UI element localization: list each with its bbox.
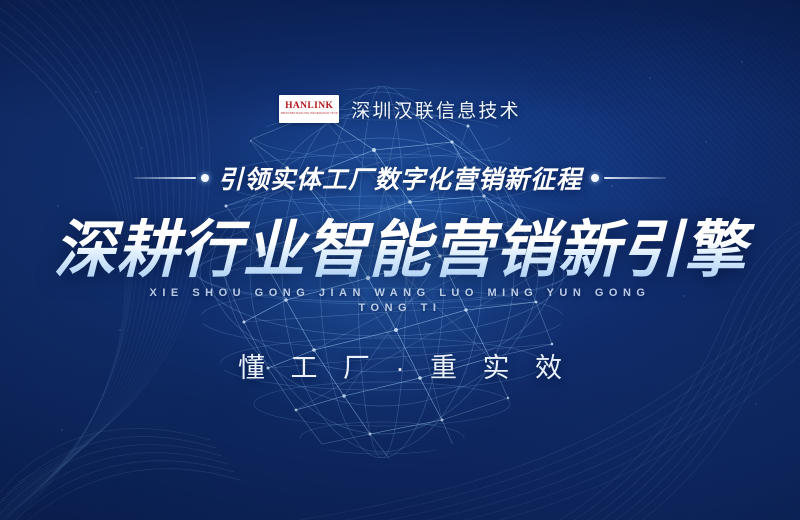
rule-right-dot: [591, 174, 599, 182]
company-name: 深圳汉联信息技术: [351, 96, 521, 123]
pinyin-block: XIE SHOU GONG JIAN WANG LUO MING YUN GON…: [0, 286, 800, 316]
rule-left-bar: [134, 177, 196, 179]
poster-tagline: 懂 工 厂 · 重 实 效: [0, 345, 800, 385]
logo-wordmark: HANLINK: [285, 102, 333, 112]
poster-subtitle: 引领实体工厂数字化营销新征程: [218, 160, 582, 196]
rule-left: [134, 174, 209, 182]
page-title: 深耕行业智能营销新引擎: [0, 206, 800, 282]
hanlink-logo: HANLINK SHENZHEN HANLINK INFORMATION TEC…: [279, 95, 339, 123]
rule-left-dot: [201, 174, 209, 182]
brand-row: HANLINK SHENZHEN HANLINK INFORMATION TEC…: [0, 92, 800, 126]
logo-subtext: SHENZHEN HANLINK INFORMATION TECH: [281, 113, 338, 116]
subtitle-row: 引领实体工厂数字化营销新征程: [0, 160, 800, 196]
poster-canvas: HANLINK SHENZHEN HANLINK INFORMATION TEC…: [0, 0, 800, 520]
pinyin-line-2: TONG TI: [0, 301, 800, 316]
pinyin-line-1: XIE SHOU GONG JIAN WANG LUO MING YUN GON…: [150, 287, 651, 299]
rule-right: [591, 174, 666, 182]
rule-right-bar: [604, 177, 666, 179]
